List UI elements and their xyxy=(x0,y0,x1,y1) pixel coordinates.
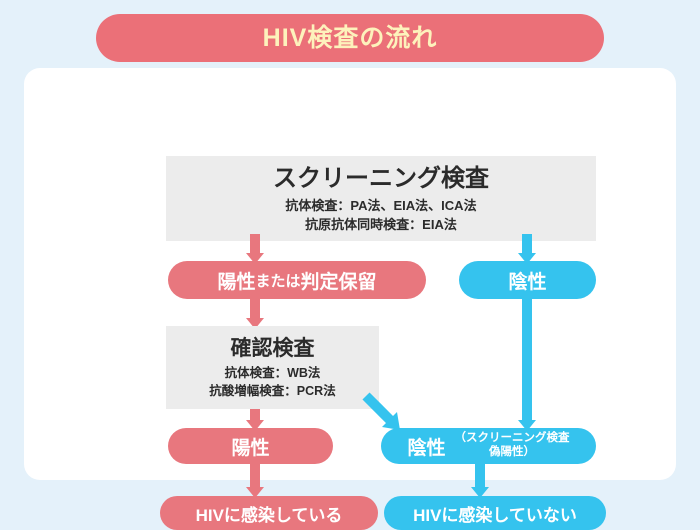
arrow-shaft xyxy=(250,234,260,254)
arrow-positive-to-infected xyxy=(240,464,270,498)
arrow-shaft xyxy=(250,299,260,319)
screening-test-subtitle-line1: 抗体検査：PA法、EIA法、ICA法 xyxy=(285,197,476,216)
page-title: HIV検査の流れ xyxy=(263,26,438,51)
arrow-shaft xyxy=(522,299,532,421)
arrow-shaft xyxy=(475,464,485,488)
confirmation-test-subtitle-line1: 抗体検査：WB法 xyxy=(225,364,321,382)
node-screening-test: スクリーニング検査 抗体検査：PA法、EIA法、ICA法 抗原抗体同時検査：EI… xyxy=(166,156,596,241)
confirmation-negative-note-line1: （スクリーニング検査 xyxy=(455,432,570,444)
confirmation-negative-note: （スクリーニング検査 偽陽性） xyxy=(455,432,570,460)
arrow-negative-bypass xyxy=(512,299,542,431)
arrow-shaft xyxy=(522,234,532,254)
node-confirmation-positive: 陽性 xyxy=(168,428,333,464)
result-not-infected-label: HIVに感染していない xyxy=(413,501,577,526)
screening-positive-label-1: 陽性 xyxy=(217,267,255,294)
confirmation-test-subtitle-line2: 抗酸増幅検査：PCR法 xyxy=(209,382,335,400)
node-screening-negative: 陰性 xyxy=(459,261,596,299)
confirmation-positive-label: 陽性 xyxy=(231,433,269,460)
result-infected-label: HIVに感染している xyxy=(196,501,343,526)
node-confirmation-test: 確認検査 抗体検査：WB法 抗酸増幅検査：PCR法 xyxy=(166,326,379,409)
screening-positive-label-conjunction: または xyxy=(255,270,300,291)
confirmation-negative-note-line2: 偽陽性） xyxy=(489,446,535,458)
node-result-infected: HIVに感染している xyxy=(160,496,378,530)
screening-test-title: スクリーニング検査 xyxy=(273,166,489,192)
node-screening-positive-or-pending: 陽性 または 判定保留 xyxy=(168,261,426,299)
node-confirmation-negative: 陰性 （スクリーニング検査 偽陽性） xyxy=(381,428,596,464)
title-banner: HIV検査の流れ xyxy=(96,14,604,62)
arrow-screening-to-negative xyxy=(512,234,542,264)
confirmation-test-title: 確認検査 xyxy=(231,337,315,360)
arrow-negative-to-not-infected xyxy=(465,464,495,498)
flowchart-card: スクリーニング検査 抗体検査：PA法、EIA法、ICA法 抗原抗体同時検査：EI… xyxy=(24,68,676,480)
screening-negative-label: 陰性 xyxy=(508,267,546,294)
screening-positive-label-2: 判定保留 xyxy=(301,267,377,294)
arrow-shaft xyxy=(250,464,260,488)
node-result-not-infected: HIVに感染していない xyxy=(384,496,606,530)
screening-test-subtitle-line2: 抗原抗体同時検査：EIA法 xyxy=(305,216,457,235)
arrow-positive-to-confirmation xyxy=(240,299,270,329)
arrow-screening-to-positive xyxy=(240,234,270,264)
confirmation-negative-label: 陰性 xyxy=(407,433,445,460)
